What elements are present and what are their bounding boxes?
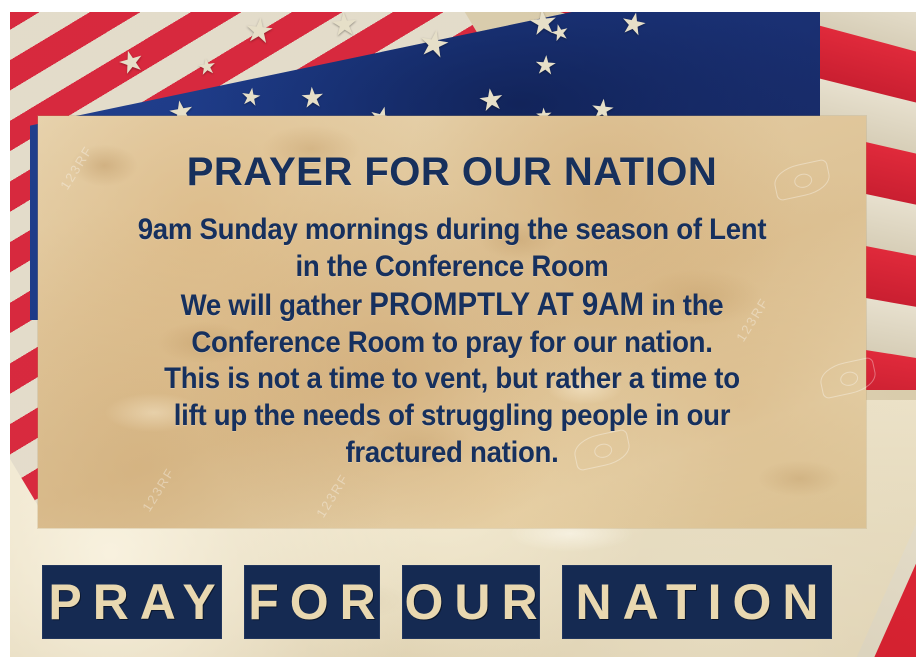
banner-word-nation: NATION — [562, 565, 832, 639]
gather-line: We will gather PROMPTLY AT 9AM in the — [95, 285, 809, 325]
flag-star-icon: ★ — [114, 45, 148, 81]
poster-canvas: ★ ★ ★ ★ ★ ★ ★ ★ ★ ★ ★ ★ ★ ★ ★ ★ ★ ★ ★ ★ … — [0, 0, 920, 657]
announcement-panel: 123RF 123RF 123RF 123RF PRAYER FOR OUR N… — [38, 116, 866, 528]
announcement-content: PRAYER FOR OUR NATION 9am Sunday morning… — [38, 116, 866, 471]
schedule-line-1: 9am Sunday mornings during the season of… — [95, 212, 809, 249]
banner-word-for: FOR — [244, 565, 380, 639]
watermark-text: 123RF — [139, 465, 178, 515]
flag-star-icon: ★ — [533, 51, 558, 79]
flag-star-icon: ★ — [238, 85, 263, 112]
watermark-text: 123RF — [313, 471, 352, 521]
flag-star-icon: ★ — [299, 83, 326, 113]
flag-star-icon: ★ — [196, 55, 219, 80]
description-line-1: Conference Room to pray for our nation. — [95, 325, 809, 362]
flag-star-icon: ★ — [476, 84, 507, 117]
banner-word-pray: PRAY — [42, 565, 222, 639]
description-line-3: lift up the needs of struggling people i… — [95, 398, 809, 435]
banner-word-our: OUR — [402, 565, 540, 639]
gather-line-emphasis: PROMPTLY AT 9AM — [369, 286, 644, 322]
bottom-banner: PRAY FOR OUR NATION — [0, 565, 920, 643]
flag-star-icon: ★ — [415, 23, 453, 64]
description-line-2: This is not a time to vent, but rather a… — [95, 361, 809, 398]
gather-line-prefix: We will gather — [181, 289, 370, 322]
page-title: PRAYER FOR OUR NATION — [64, 151, 840, 193]
schedule-line-2: in the Conference Room — [95, 249, 809, 286]
poster-white-frame-right — [916, 0, 920, 657]
flag-star-icon: ★ — [242, 12, 276, 49]
flag-star-icon: ★ — [329, 7, 360, 41]
gather-line-suffix: in the — [644, 289, 723, 322]
description-line-4: fractured nation. — [95, 435, 809, 472]
